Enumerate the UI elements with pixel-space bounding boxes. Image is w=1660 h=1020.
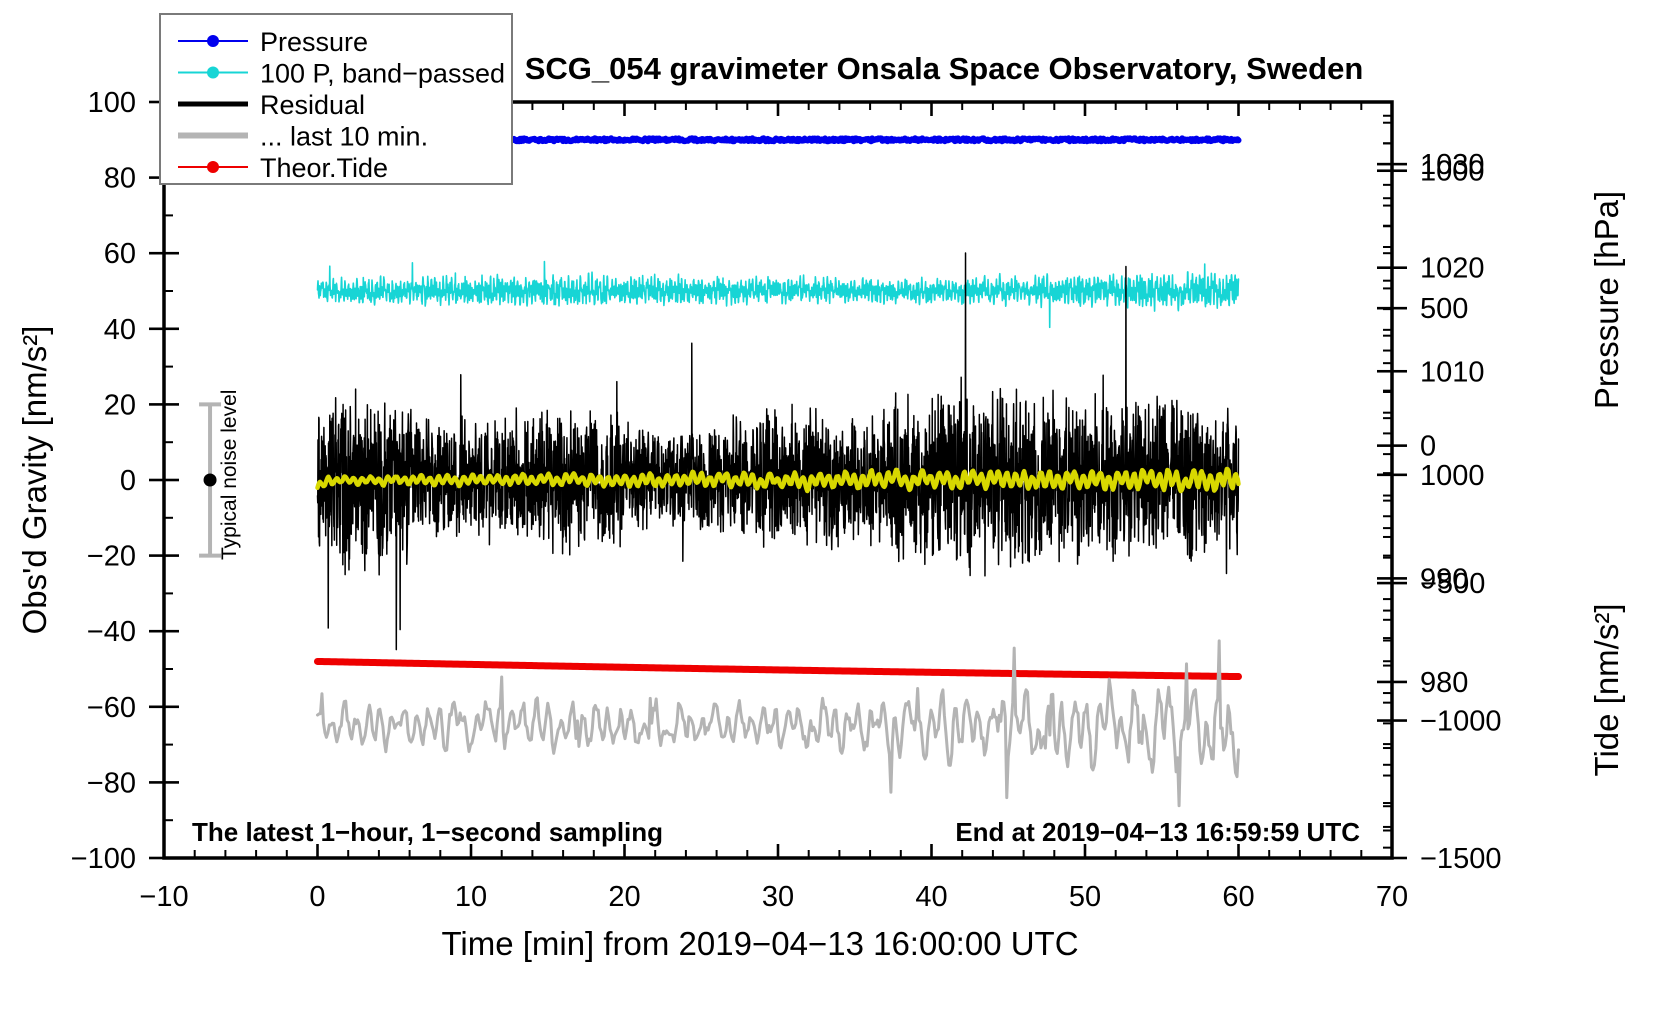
legend: Pressure100 P, band−passedResidual... la… bbox=[160, 14, 512, 184]
annotation-bottom-right: End at 2019−04−13 16:59:59 UTC bbox=[955, 817, 1360, 847]
legend-marker-4 bbox=[207, 161, 219, 173]
data-traces bbox=[318, 138, 1239, 805]
y-axis-title: Obs'd Gravity [nm/s²] bbox=[16, 326, 53, 635]
x-tick-label: 30 bbox=[762, 881, 794, 913]
trace-band-passed-pressure bbox=[318, 262, 1239, 328]
x-axis-title: Time [min] from 2019−04−13 16:00:00 UTC bbox=[441, 925, 1078, 962]
trace-theoretical-tide bbox=[318, 661, 1239, 676]
x-tick-label: 70 bbox=[1376, 881, 1408, 913]
x-tick-label: 60 bbox=[1222, 881, 1254, 913]
pressure-tick-label: 980 bbox=[1420, 667, 1468, 699]
trace-residual bbox=[318, 253, 1239, 650]
x-tick-label: −10 bbox=[139, 881, 188, 913]
chart-canvas: −10010203040506070 −100−80−60−40−2002040… bbox=[0, 0, 1660, 1020]
tide-tick-label: −1000 bbox=[1420, 706, 1501, 738]
tide-axis-title: Tide [nm/s²] bbox=[1588, 604, 1625, 777]
legend-label-0: Pressure bbox=[260, 27, 368, 57]
x-tick-label: 50 bbox=[1069, 881, 1101, 913]
y-tick-label: 60 bbox=[104, 238, 136, 270]
x-tick-label: 0 bbox=[309, 881, 325, 913]
noise-center-dot bbox=[204, 474, 217, 487]
y-tick-label: 40 bbox=[104, 314, 136, 346]
legend-label-4: Theor.Tide bbox=[260, 153, 388, 183]
gravimeter-plot: −10010203040506070 −100−80−60−40−2002040… bbox=[0, 0, 1660, 1020]
legend-label-1: 100 P, band−passed bbox=[260, 59, 505, 89]
x-tick-label: 10 bbox=[455, 881, 487, 913]
pressure-tick-label: 1010 bbox=[1420, 356, 1485, 388]
legend-label-3: ... last 10 min. bbox=[260, 122, 428, 152]
y-tick-label: 80 bbox=[104, 163, 136, 195]
annotation-bottom-left: The latest 1−hour, 1−second sampling bbox=[192, 817, 663, 847]
y-tick-label: −60 bbox=[87, 692, 136, 724]
tide-tick-label: 0 bbox=[1420, 431, 1436, 463]
legend-marker-1 bbox=[207, 67, 219, 79]
tide-tick-label: 1000 bbox=[1420, 156, 1485, 188]
y-tick-label: 0 bbox=[120, 465, 136, 497]
legend-marker-0 bbox=[207, 35, 219, 47]
y-tick-label: −100 bbox=[71, 843, 136, 875]
tide-tick-label: −1500 bbox=[1420, 843, 1501, 875]
tide-tick-label: −500 bbox=[1420, 568, 1485, 600]
tide-axis-ticks: −1500−1000−50005001000 bbox=[1377, 116, 1501, 875]
y-tick-label: −80 bbox=[87, 767, 136, 799]
pressure-tick-label: 1020 bbox=[1420, 253, 1485, 285]
y-tick-label: 100 bbox=[88, 87, 136, 119]
pressure-tick-label: 1000 bbox=[1420, 460, 1485, 492]
x-tick-label: 40 bbox=[915, 881, 947, 913]
noise-level-label: Typical noise level bbox=[218, 390, 241, 560]
pressure-axis-title: Pressure [hPa] bbox=[1588, 191, 1625, 409]
legend-label-2: Residual bbox=[260, 90, 365, 120]
tide-tick-label: 500 bbox=[1420, 293, 1468, 325]
x-tick-label: 20 bbox=[608, 881, 640, 913]
y-tick-label: −40 bbox=[87, 616, 136, 648]
y-tick-label: −20 bbox=[87, 541, 136, 573]
page-title: SCG_054 gravimeter Onsala Space Observat… bbox=[525, 51, 1364, 86]
y-tick-label: 20 bbox=[104, 389, 136, 421]
